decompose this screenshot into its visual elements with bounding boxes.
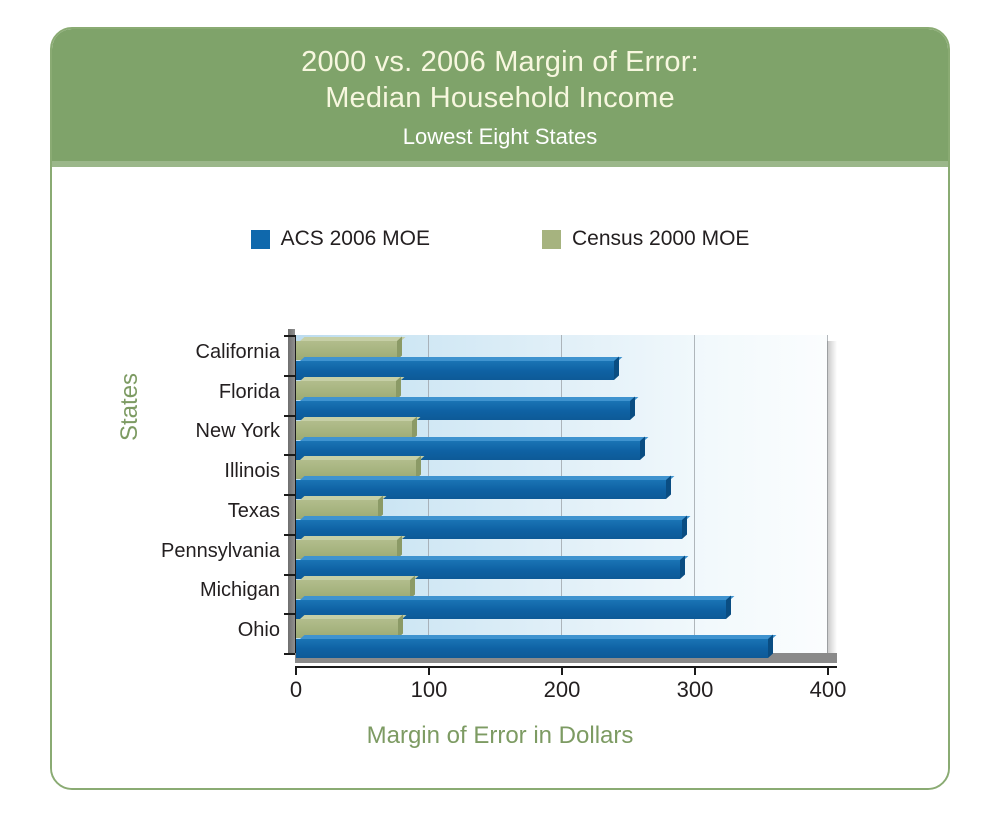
bar-side-bevel	[630, 396, 635, 420]
y-tick-3	[284, 494, 295, 496]
bar-top-bevel	[300, 417, 420, 421]
x-tick-label-0: 0	[290, 677, 302, 703]
x-axis-line	[295, 666, 837, 668]
bar-top-bevel	[300, 576, 419, 580]
bar-top-bevel	[300, 496, 387, 500]
bar-top-bevel	[300, 397, 638, 401]
y-tick-7	[284, 653, 295, 655]
y-tick-5	[284, 574, 295, 576]
y-axis-label-michigan: Michigan	[200, 579, 280, 602]
y-axis-labels: CaliforniaFloridaNew YorkIllinoisTexasPe…	[52, 169, 280, 790]
y-axis-label-illinois: Illinois	[224, 460, 280, 483]
bar-side-bevel	[726, 595, 731, 619]
y-tick-top	[284, 335, 295, 337]
y-axis-label-ohio: Ohio	[238, 619, 280, 642]
x-axis-title: Margin of Error in Dollars	[52, 722, 948, 750]
y-tick-1	[284, 415, 295, 417]
bar-top-bevel	[300, 596, 734, 600]
bar-face	[296, 639, 768, 658]
x-tick-300	[694, 666, 696, 675]
x-tick-100	[428, 666, 430, 675]
bar-top-bevel	[300, 357, 622, 361]
y-axis-label-pennsylvania: Pennsylvania	[161, 540, 280, 563]
bar-top-bevel	[300, 536, 406, 540]
x-tick-label-300: 300	[677, 677, 714, 703]
x-tick-label-400: 400	[810, 677, 847, 703]
y-tick-0	[284, 375, 295, 377]
bar-top-bevel	[300, 456, 424, 460]
chart-title-line-2: Median Household Income	[325, 80, 675, 116]
y-axis-label-florida: Florida	[219, 381, 280, 404]
bar-top-bevel	[300, 337, 406, 341]
bar-top-bevel	[300, 437, 649, 441]
bar-top-bevel	[300, 516, 690, 520]
chart-frame: 2000 vs. 2006 Margin of Error: Median Ho…	[50, 27, 950, 790]
x-tick-label-100: 100	[411, 677, 448, 703]
plot-right-shadow	[827, 341, 837, 659]
y-axis-label-texas: Texas	[228, 500, 280, 523]
x-tick-400	[827, 666, 829, 675]
x-tick-0	[295, 666, 297, 675]
chart-body: ACS 2006 MOE Census 2000 MOE CaliforniaF…	[52, 169, 948, 790]
y-tick-2	[284, 454, 295, 456]
plot-left-wall	[288, 329, 295, 653]
plot-floor-bevel	[827, 653, 837, 663]
plot-wrapper: CaliforniaFloridaNew YorkIllinoisTexasPe…	[52, 169, 948, 790]
x-tick-200	[561, 666, 563, 675]
y-axis-label-california: California	[196, 341, 280, 364]
y-tick-6	[284, 613, 295, 615]
bar-top-bevel	[300, 615, 407, 619]
bar-top-bevel	[300, 377, 404, 381]
bar-side-bevel	[412, 416, 417, 440]
bar-top-bevel	[300, 556, 689, 560]
chart-header-band: 2000 vs. 2006 Margin of Error: Median Ho…	[52, 29, 948, 167]
y-axis-label-new-york: New York	[196, 420, 281, 443]
bar-top-bevel	[300, 476, 674, 480]
bar-top-bevel	[300, 635, 777, 639]
x-tick-label-200: 200	[544, 677, 581, 703]
y-axis-title: States	[116, 373, 144, 441]
chart-title-line-1: 2000 vs. 2006 Margin of Error:	[301, 44, 699, 80]
y-tick-4	[284, 534, 295, 536]
chart-subtitle: Lowest Eight States	[403, 122, 597, 152]
bar-blue-ohio[interactable]	[296, 639, 768, 658]
